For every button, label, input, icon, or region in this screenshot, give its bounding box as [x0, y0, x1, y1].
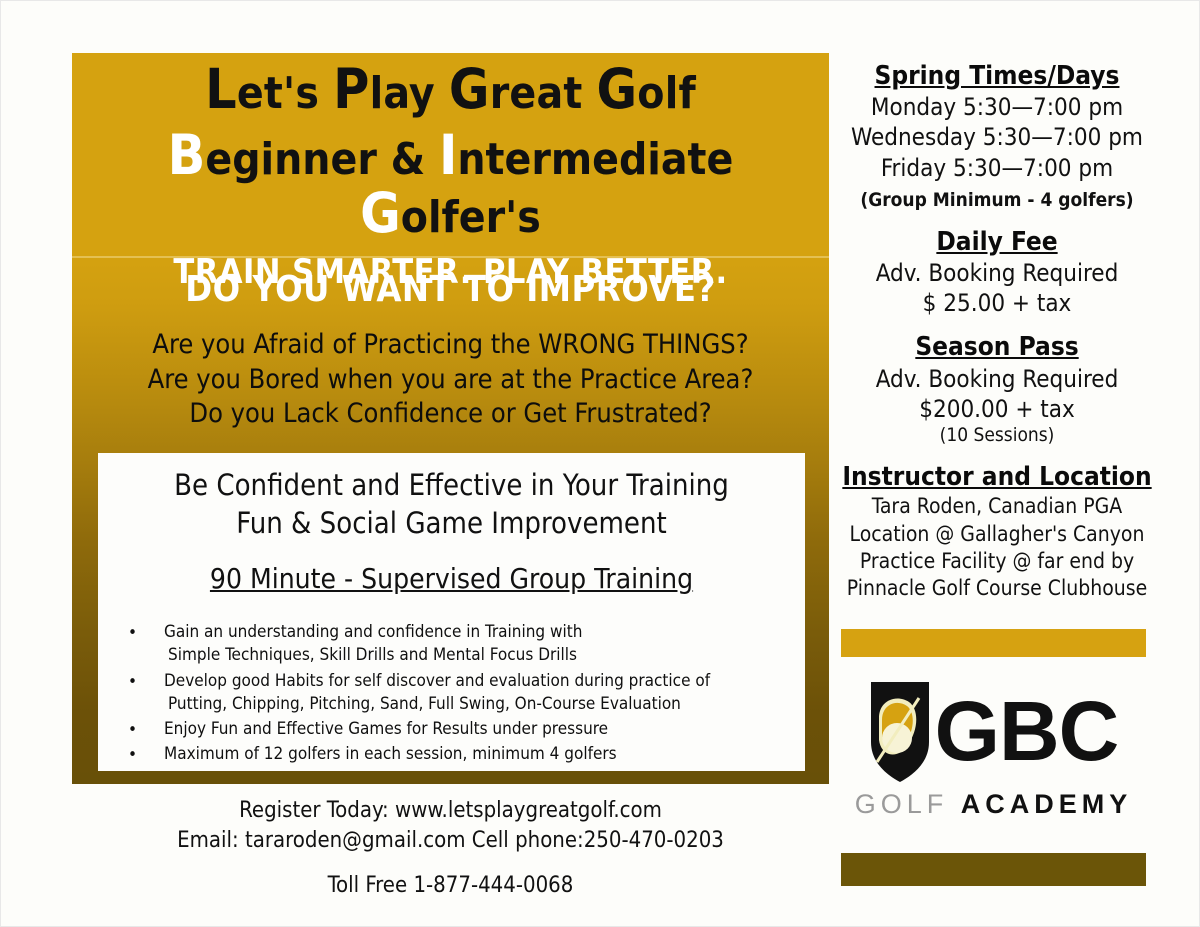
email-phone-line[interactable]: Email: tararoden@gmail.com Cell phone:25…	[72, 826, 829, 856]
list-item: • Develop good Habits for self discover …	[116, 670, 791, 716]
title-line-2: Beginner & Intermediate Golfer's	[72, 127, 829, 243]
card-heading-line-2: Fun & Social Game Improvement	[98, 505, 805, 543]
title2-cap-0: B	[168, 123, 206, 187]
card-heading-line-1: Be Confident and Effective in Your Train…	[98, 467, 805, 505]
instructor-heading: Instructor and Location	[837, 462, 1157, 493]
flyer-page: Let's Play Great Golf Beginner & Interme…	[0, 0, 1200, 927]
list-item-text: Enjoy Fun and Effective Games for Result…	[164, 719, 608, 739]
title1-rest-0: et's	[237, 68, 333, 119]
card-heading: Be Confident and Effective in Your Train…	[98, 453, 805, 542]
list-item: • Gain an understanding and confidence i…	[116, 621, 791, 667]
question-line-1: Are you Afraid of Practicing the WRONG T…	[72, 328, 829, 363]
season-pass-group: Season Pass Adv. Booking Required $200.0…	[837, 332, 1157, 448]
title2-cap-1: I	[439, 123, 457, 187]
title1-cap-2: G	[449, 57, 490, 121]
season-pass-note: (10 Sessions)	[837, 424, 1157, 448]
bullet-icon: •	[128, 622, 137, 645]
instructor-group: Instructor and Location Tara Roden, Cana…	[837, 462, 1157, 602]
list-item-text: Develop good Habits for self discover an…	[164, 671, 710, 691]
schedule-group: Spring Times/Days Monday 5:30—7:00 pm We…	[837, 61, 1157, 213]
question-line-2: Are you Bored when you are at the Practi…	[72, 363, 829, 398]
daily-fee-group: Daily Fee Adv. Booking Required $ 25.00 …	[837, 227, 1157, 319]
list-item-text: Gain an understanding and confidence in …	[164, 622, 582, 642]
card-subheading: 90 Minute - Supervised Group Training	[98, 562, 805, 595]
title1-cap-1: P	[333, 57, 369, 121]
title1-rest-1: lay	[370, 68, 449, 119]
bullet-icon: •	[128, 719, 137, 742]
daily-fee-price: $ 25.00 + tax	[837, 288, 1157, 318]
headline-block: Let's Play Great Golf Beginner & Interme…	[72, 61, 829, 292]
daily-fee-heading: Daily Fee	[837, 227, 1157, 258]
schedule-note: (Group Minimum - 4 golfers)	[837, 189, 1157, 213]
list-item: • Maximum of 12 golfers in each session,…	[116, 743, 791, 766]
toll-free-line[interactable]: Toll Free 1-877-444-0068	[72, 871, 829, 901]
schedule-row-wednesday: Wednesday 5:30—7:00 pm	[837, 122, 1157, 152]
logo-subtitle: GOLF ACADEMY	[841, 789, 1146, 820]
logo-subtitle-academy: ACADEMY	[961, 789, 1133, 819]
instructor-location-1: Location @ Gallagher's Canyon	[837, 521, 1157, 548]
title2-rest-1: ntermediate	[457, 134, 733, 185]
instructor-location-2: Practice Facility @ far end by	[837, 548, 1157, 575]
logo-subtitle-golf: GOLF	[855, 789, 949, 819]
title1-rest-3: olf	[637, 68, 696, 119]
instructor-location-3: Pinnacle Golf Course Clubhouse	[837, 575, 1157, 602]
logo-mark-row: GBC	[841, 677, 1146, 787]
gold-accent-bar	[841, 629, 1146, 657]
list-item-continuation: Simple Techniques, Skill Drills and Ment…	[164, 644, 791, 667]
title1-cap-0: L	[205, 57, 237, 121]
season-pass-price: $200.00 + tax	[837, 394, 1157, 424]
title2-rest-0: eginner &	[205, 134, 439, 185]
bullet-icon: •	[128, 671, 137, 694]
list-item-text: Maximum of 12 golfers in each session, m…	[164, 744, 617, 764]
contact-block: Register Today: www.letsplaygreatgolf.co…	[72, 796, 829, 901]
improve-headline: DO YOU WANT TO IMPROVE?	[72, 269, 829, 310]
list-item-continuation: Putting, Chipping, Pitching, Sand, Full …	[164, 693, 791, 716]
title-line-1: Let's Play Great Golf	[72, 61, 829, 119]
list-item: • Enjoy Fun and Effective Games for Resu…	[116, 718, 791, 741]
benefits-list: • Gain an understanding and confidence i…	[98, 621, 805, 766]
bullet-icon: •	[128, 744, 137, 767]
shield-golfball-icon	[869, 680, 931, 784]
title1-rest-2: reat	[490, 68, 597, 119]
questions-block: DO YOU WANT TO IMPROVE? Are you Afraid o…	[72, 269, 829, 432]
register-line[interactable]: Register Today: www.letsplaygreatgolf.co…	[72, 796, 829, 826]
olive-accent-bar	[841, 853, 1146, 886]
logo-wordmark: GBC	[935, 692, 1119, 772]
sidebar: Spring Times/Days Monday 5:30—7:00 pm We…	[837, 61, 1157, 602]
schedule-row-friday: Friday 5:30—7:00 pm	[837, 153, 1157, 183]
season-pass-booking: Adv. Booking Required	[837, 364, 1157, 394]
season-pass-heading: Season Pass	[837, 332, 1157, 363]
program-details-card: Be Confident and Effective in Your Train…	[98, 453, 805, 771]
title2-cap-2: G	[360, 181, 401, 245]
gbc-logo: GBC GOLF ACADEMY	[841, 677, 1146, 845]
title2-rest-2: olfer's	[401, 192, 541, 243]
title1-cap-3: G	[596, 57, 637, 121]
question-line-3: Do you Lack Confidence or Get Frustrated…	[72, 397, 829, 432]
schedule-row-monday: Monday 5:30—7:00 pm	[837, 92, 1157, 122]
schedule-heading: Spring Times/Days	[837, 61, 1157, 92]
instructor-name: Tara Roden, Canadian PGA	[837, 493, 1157, 520]
daily-fee-booking: Adv. Booking Required	[837, 258, 1157, 288]
